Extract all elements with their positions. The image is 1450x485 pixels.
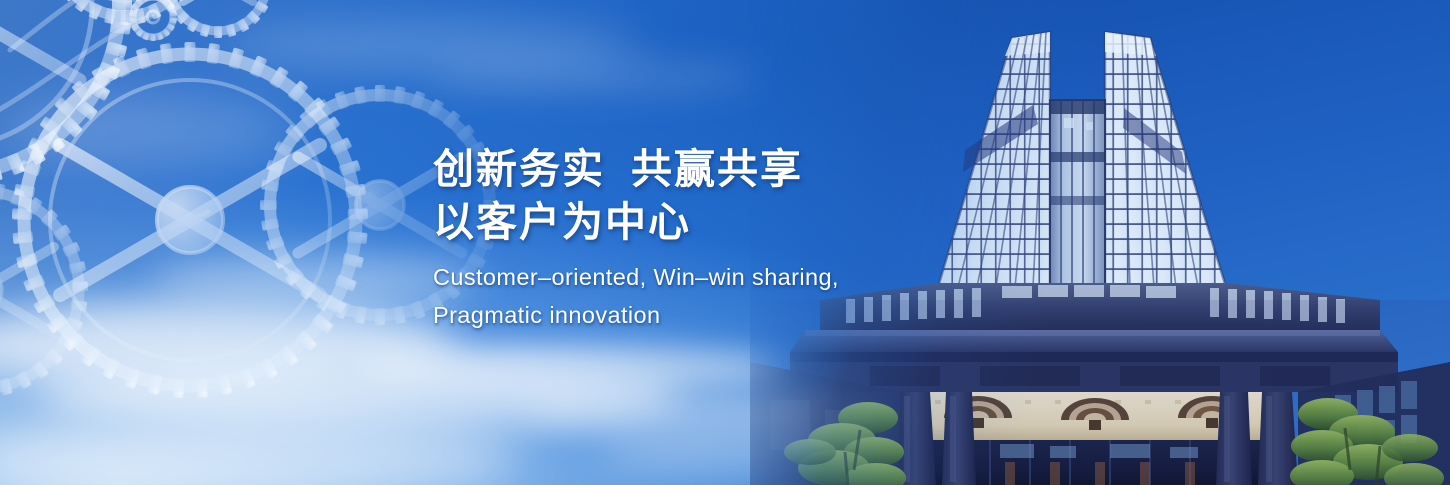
headline-cn-line-1: 创新务实共赢共享: [433, 143, 953, 196]
hero-banner: 创新务实共赢共享 以客户为中心 Customer–oriented, Win–w…: [0, 0, 1450, 485]
headline-cn-line-2: 以客户为中心: [433, 196, 953, 249]
headline-cn-phrase-2: 共赢共享: [631, 146, 803, 192]
subhead-en-line-2: Pragmatic innovation: [433, 296, 953, 334]
headline-cn-phrase-1: 创新务实: [433, 146, 605, 192]
subhead-en-line-1: Customer–oriented, Win–win sharing,: [433, 258, 953, 296]
banner-copy: 创新务实共赢共享 以客户为中心 Customer–oriented, Win–w…: [433, 143, 953, 334]
